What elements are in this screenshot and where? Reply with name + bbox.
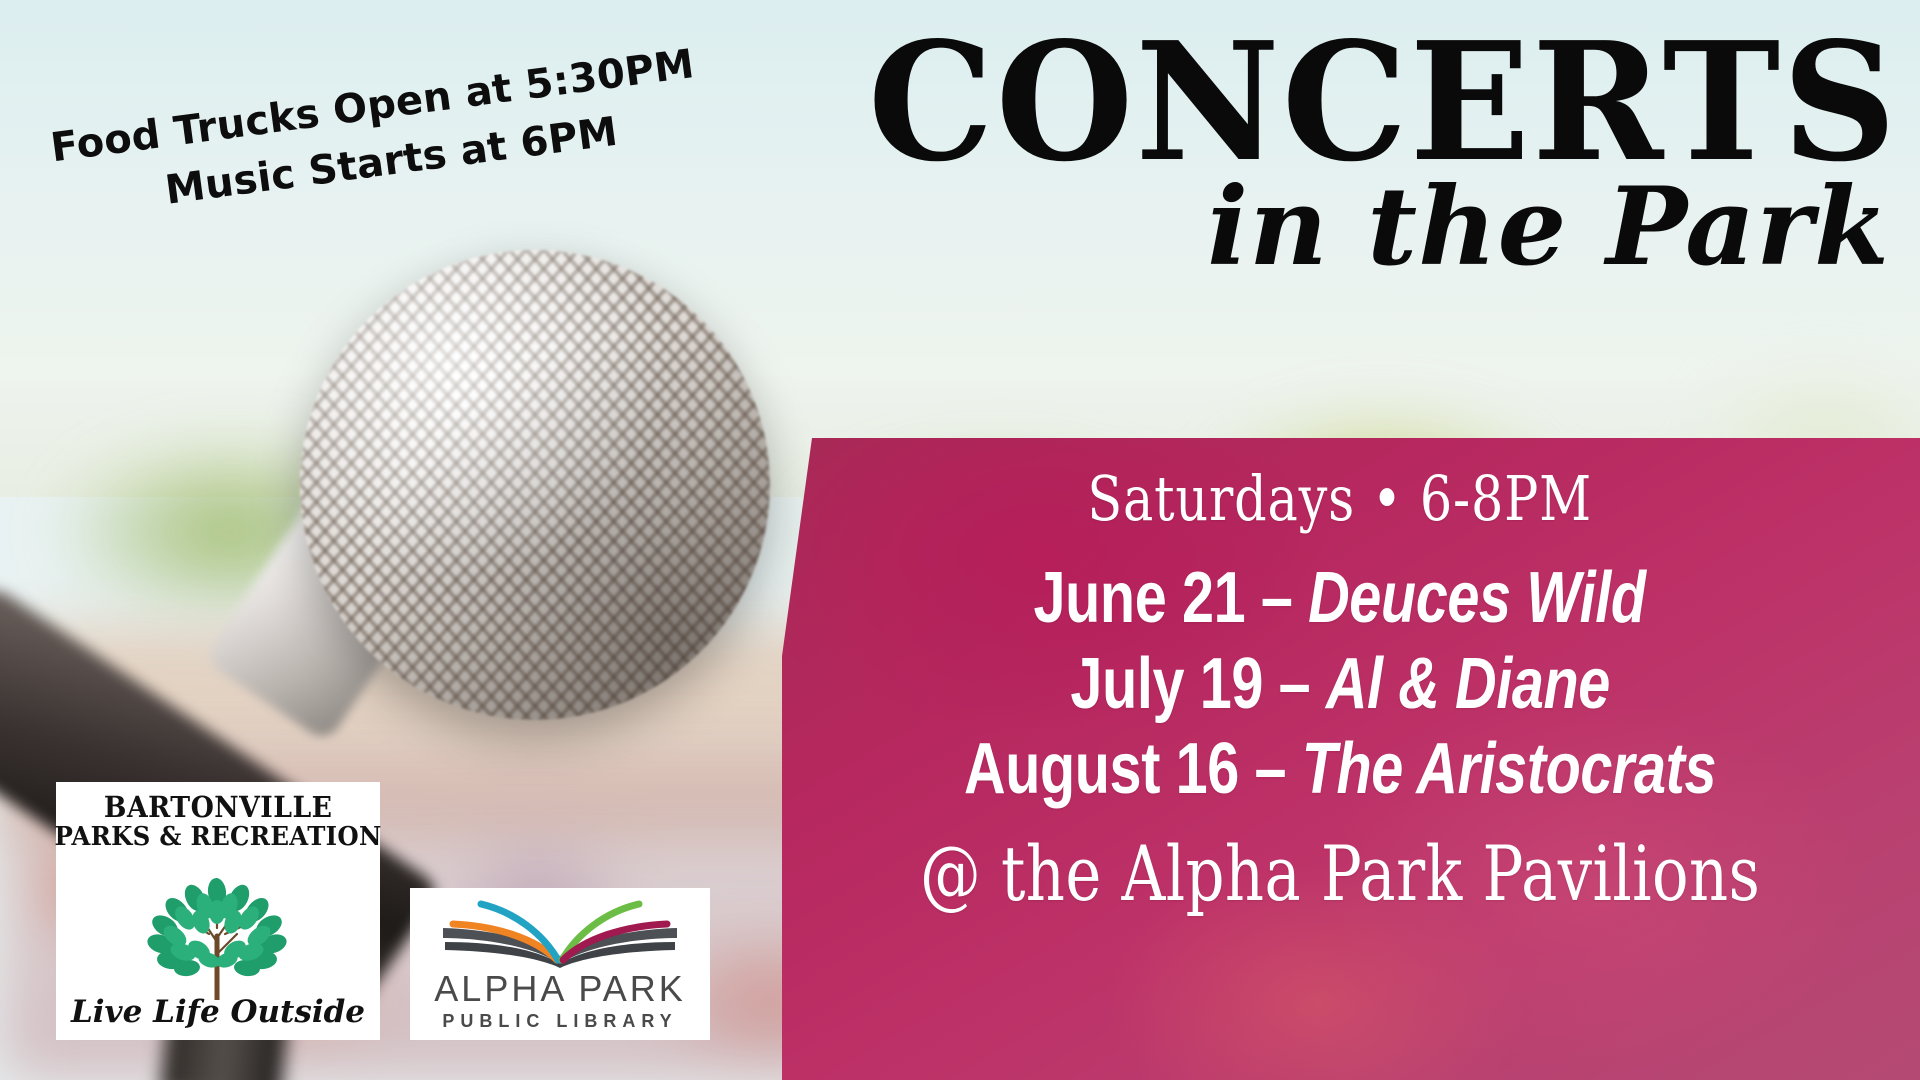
open-book-icon <box>435 898 685 970</box>
parks-logo-line-2: PARKS & RECREATION <box>54 822 381 852</box>
event-date: June 21 <box>1034 558 1246 638</box>
event-dash: – <box>1263 644 1326 724</box>
alpha-park-library-logo: ALPHA PARK PUBLIC LIBRARY <box>410 888 710 1040</box>
event-dash: – <box>1239 729 1302 809</box>
parks-logo-line-1: BARTONVILLE <box>104 790 333 824</box>
schedule-header: Saturdays • 6-8PM <box>1088 466 1593 531</box>
library-logo-line-2: PUBLIC LIBRARY <box>442 1011 677 1032</box>
event-flyer: Food Trucks Open at 5:30PM Music Starts … <box>0 0 1920 1080</box>
event-band: Deuces Wild <box>1308 558 1646 638</box>
bartonville-parks-logo: BARTONVILLE PARKS & RECREATION <box>56 782 380 1040</box>
headline-main: CONCERTS <box>868 26 1898 179</box>
venue-line: @ the Alpha Park Pavilions <box>920 834 1760 914</box>
microphone-shading <box>300 250 770 720</box>
library-logo-line-1: ALPHA PARK <box>434 968 685 1010</box>
event-list: June 21 – Deuces Wild July 19 – Al & Dia… <box>760 557 1920 812</box>
event-date: July 19 <box>1070 644 1263 724</box>
list-item: July 19 – Al & Diane <box>1070 643 1609 727</box>
event-band: Al & Diane <box>1326 644 1610 724</box>
event-band: The Aristocrats <box>1302 729 1716 809</box>
event-date: August 16 <box>964 729 1239 809</box>
page-title: CONCERTS in the Park <box>836 26 1898 281</box>
schedule-banner: Saturdays • 6-8PM June 21 – Deuces Wild … <box>760 438 1920 1080</box>
microphone-head-icon <box>300 250 770 720</box>
tree-icon <box>113 850 323 1000</box>
event-dash: – <box>1246 558 1309 638</box>
list-item: August 16 – The Aristocrats <box>964 728 1716 812</box>
list-item: June 21 – Deuces Wild <box>1034 557 1646 641</box>
